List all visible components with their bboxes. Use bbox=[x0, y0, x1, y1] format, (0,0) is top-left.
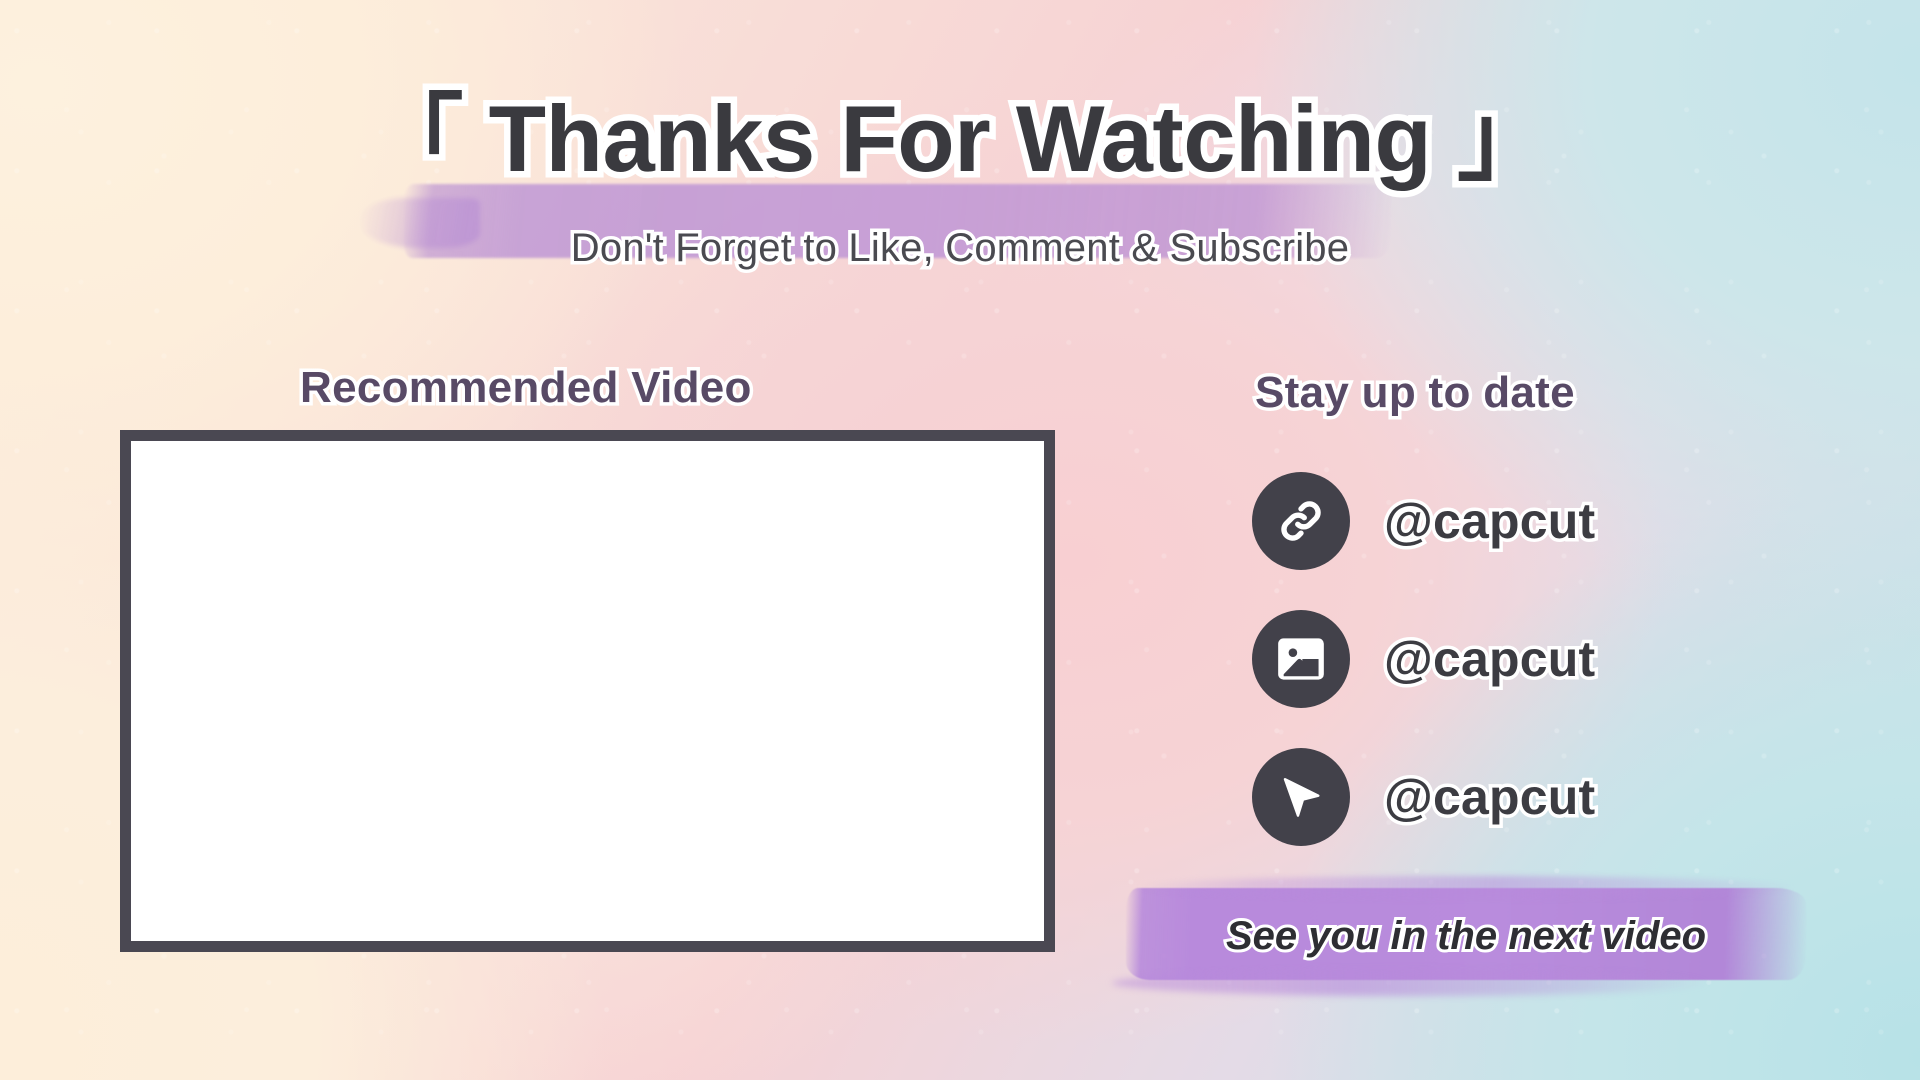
page-subtitle: Don't Forget to Like, Comment & Subscrib… bbox=[0, 226, 1920, 271]
brush-wisp-top bbox=[1136, 876, 1796, 898]
social-handle[interactable]: @capcut bbox=[1384, 492, 1595, 550]
signoff-text: See you in the next video bbox=[1126, 914, 1806, 959]
cursor-icon[interactable] bbox=[1252, 748, 1350, 846]
recommended-video-placeholder[interactable] bbox=[120, 430, 1055, 952]
list-item[interactable]: @capcut bbox=[1252, 472, 1595, 570]
social-links-list: @capcut @capcut bbox=[1252, 472, 1595, 846]
social-handle[interactable]: @capcut bbox=[1384, 768, 1595, 826]
link-icon[interactable] bbox=[1252, 472, 1350, 570]
list-item[interactable]: @capcut bbox=[1252, 748, 1595, 846]
image-icon[interactable] bbox=[1252, 610, 1350, 708]
stay-up-to-date-heading: Stay up to date bbox=[1255, 368, 1575, 418]
recommended-video-heading: Recommended Video bbox=[300, 363, 752, 413]
brush-wisp-bottom bbox=[1112, 970, 1712, 996]
list-item[interactable]: @capcut bbox=[1252, 610, 1595, 708]
outro-end-card: 「 Thanks For Watching 」 Don't Forget to … bbox=[0, 0, 1920, 1080]
signoff-brush-banner: See you in the next video bbox=[1126, 888, 1806, 980]
page-title: 「 Thanks For Watching 」 bbox=[0, 88, 1920, 190]
social-handle[interactable]: @capcut bbox=[1384, 630, 1595, 688]
